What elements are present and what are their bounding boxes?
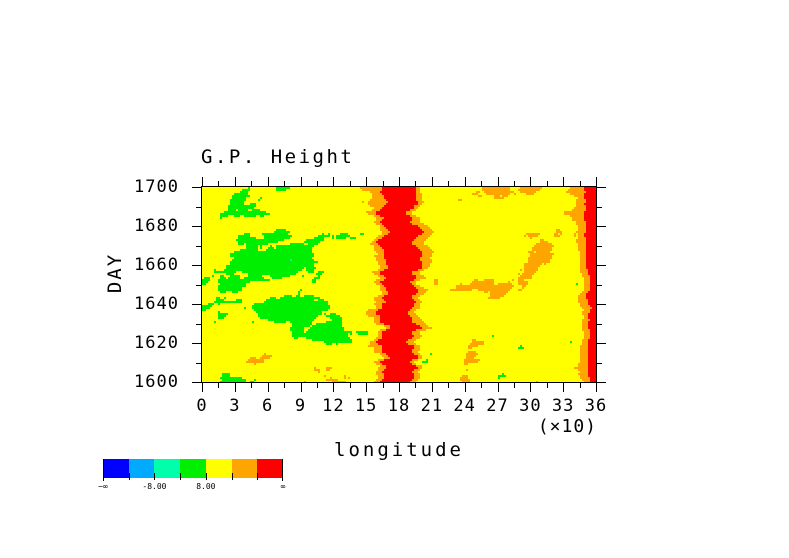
y-tick-label: 1700 xyxy=(107,177,179,197)
colorbar: −∞-8.008.00∞ xyxy=(103,459,283,478)
x-tick-label: 30 xyxy=(510,396,550,416)
axis-tick xyxy=(563,383,564,392)
axis-tick xyxy=(432,177,433,186)
axis-tick xyxy=(333,177,334,186)
y-tick-label: 1680 xyxy=(107,216,179,236)
x-tick-label: 24 xyxy=(445,396,485,416)
axis-tick xyxy=(192,343,201,344)
axis-tick xyxy=(268,177,269,186)
axis-tick xyxy=(448,383,449,388)
axis-tick xyxy=(192,265,201,266)
axis-tick xyxy=(597,187,606,188)
axis-tick xyxy=(498,177,499,186)
axis-tick xyxy=(284,383,285,388)
axis-tick xyxy=(597,363,602,364)
y-axis-title: DAY xyxy=(104,253,126,293)
axis-tick xyxy=(481,383,482,388)
x-tick-label: 27 xyxy=(478,396,518,416)
axis-tick xyxy=(563,177,564,186)
axis-tick xyxy=(597,246,602,247)
colorbar-label-high: 8.00 xyxy=(196,482,215,491)
axis-tick xyxy=(235,177,236,186)
x-axis-title: longitude xyxy=(201,439,597,461)
axis-tick xyxy=(597,324,602,325)
axis-tick xyxy=(192,382,201,383)
axis-tick xyxy=(192,304,201,305)
axis-tick xyxy=(366,177,367,186)
axis-tick xyxy=(597,285,602,286)
axis-tick xyxy=(596,177,597,186)
colorbar-tick xyxy=(232,473,233,480)
axis-tick xyxy=(596,383,597,392)
colorbar-end-tick xyxy=(282,459,283,481)
axis-tick xyxy=(432,383,433,392)
axis-tick xyxy=(530,383,531,392)
x-tick-label: 36 xyxy=(576,396,616,416)
axis-tick xyxy=(597,304,606,305)
x-tick-label: 6 xyxy=(248,396,288,416)
axis-tick xyxy=(235,383,236,392)
axis-tick xyxy=(498,383,499,392)
axis-tick xyxy=(597,382,606,383)
axis-tick xyxy=(465,177,466,186)
colorbar-ticks: −∞-8.008.00∞ xyxy=(103,459,283,484)
axis-tick xyxy=(383,383,384,388)
colorbar-end-tick xyxy=(103,459,104,481)
x-tick-label: 3 xyxy=(215,396,255,416)
y-tick-label: 1620 xyxy=(107,333,179,353)
axis-tick xyxy=(399,383,400,392)
axis-tick xyxy=(301,383,302,392)
colorbar-tick xyxy=(129,473,130,480)
axis-tick xyxy=(597,343,606,344)
axis-tick xyxy=(366,383,367,392)
x-tick-label: 33 xyxy=(543,396,583,416)
axis-tick xyxy=(192,187,201,188)
axis-tick xyxy=(268,383,269,392)
x-axis-multiplier-label: (×10) xyxy=(457,416,597,437)
axis-tick xyxy=(202,383,203,392)
axis-tick xyxy=(202,177,203,186)
x-tick-label: 18 xyxy=(379,396,419,416)
axis-tick xyxy=(399,177,400,186)
axis-tick xyxy=(415,383,416,388)
axis-tick xyxy=(317,383,318,388)
y-tick-label: 1600 xyxy=(107,372,179,392)
contour-plot-figure: G.P. Height 160016201640166016801700 036… xyxy=(0,0,789,558)
axis-tick xyxy=(218,383,219,388)
axis-tick xyxy=(547,383,548,388)
plot-area xyxy=(201,186,597,383)
colorbar-tick xyxy=(154,473,155,480)
colorbar-tick xyxy=(257,473,258,480)
colorbar-tick xyxy=(206,473,207,480)
x-tick-label: 9 xyxy=(281,396,321,416)
axis-tick xyxy=(597,265,606,266)
axis-tick xyxy=(514,383,515,388)
x-tick-label: 15 xyxy=(346,396,386,416)
x-tick-label: 21 xyxy=(412,396,452,416)
heatmap-field xyxy=(202,187,596,382)
axis-tick xyxy=(301,177,302,186)
page-title: G.P. Height xyxy=(201,146,354,168)
x-tick-label: 12 xyxy=(313,396,353,416)
axis-tick xyxy=(465,383,466,392)
colorbar-tick xyxy=(180,473,181,480)
axis-tick xyxy=(530,177,531,186)
colorbar-label-low: -8.00 xyxy=(142,482,166,491)
axis-tick xyxy=(597,226,606,227)
colorbar-label-max: ∞ xyxy=(281,482,286,491)
axis-tick xyxy=(251,383,252,388)
axis-tick xyxy=(333,383,334,392)
y-tick-label: 1640 xyxy=(107,294,179,314)
x-tick-label: 0 xyxy=(182,396,222,416)
axis-tick xyxy=(350,383,351,388)
axis-tick xyxy=(580,383,581,388)
axis-tick xyxy=(192,226,201,227)
axis-tick xyxy=(597,207,602,208)
colorbar-label-min: −∞ xyxy=(98,482,108,491)
